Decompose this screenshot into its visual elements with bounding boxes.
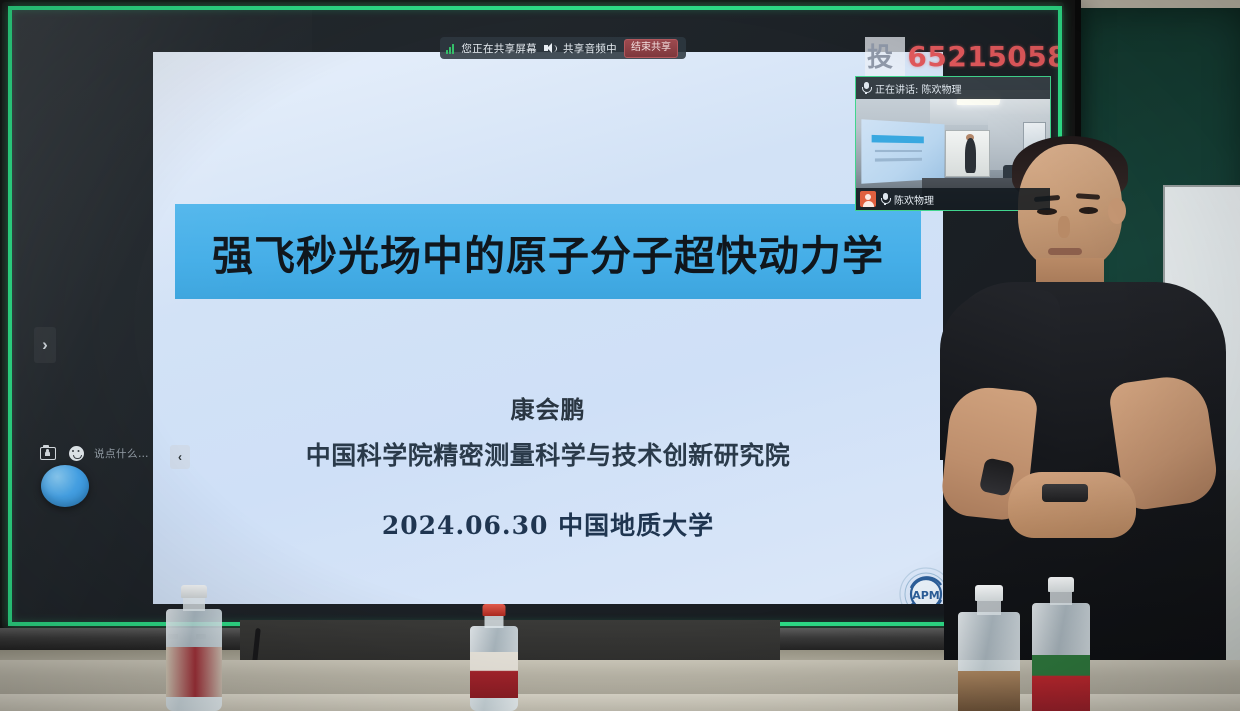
water-bottle xyxy=(958,585,1020,711)
screen-share-active-border xyxy=(8,6,1062,626)
presenter-ear xyxy=(1108,198,1126,224)
water-bottle xyxy=(166,585,222,711)
pip-speaking-label: 正在讲话: 陈欢物理 xyxy=(875,81,962,96)
presentation-clicker xyxy=(1042,484,1088,502)
water-bottle xyxy=(470,604,518,711)
classroom-screenshot: 强飞秒光场中的原子分子超快动力学 康会鹏 中国科学院精密测量科学与技术创新研究院… xyxy=(0,0,1240,711)
microphone-icon xyxy=(862,82,870,94)
pip-participant-name: 陈欢物理 xyxy=(894,192,934,207)
presenter-hands xyxy=(1008,472,1136,538)
pip-speaking-bar: 正在讲话: 陈欢物理 xyxy=(856,77,1050,99)
microphone-icon xyxy=(881,193,889,205)
smart-display: 强飞秒光场中的原子分子超快动力学 康会鹏 中国科学院精密测量科学与技术创新研究院… xyxy=(0,0,1081,640)
pip-participant-bar: 陈欢物理 xyxy=(856,188,1050,210)
user-avatar-icon xyxy=(860,191,876,207)
water-bottle xyxy=(1032,577,1090,711)
